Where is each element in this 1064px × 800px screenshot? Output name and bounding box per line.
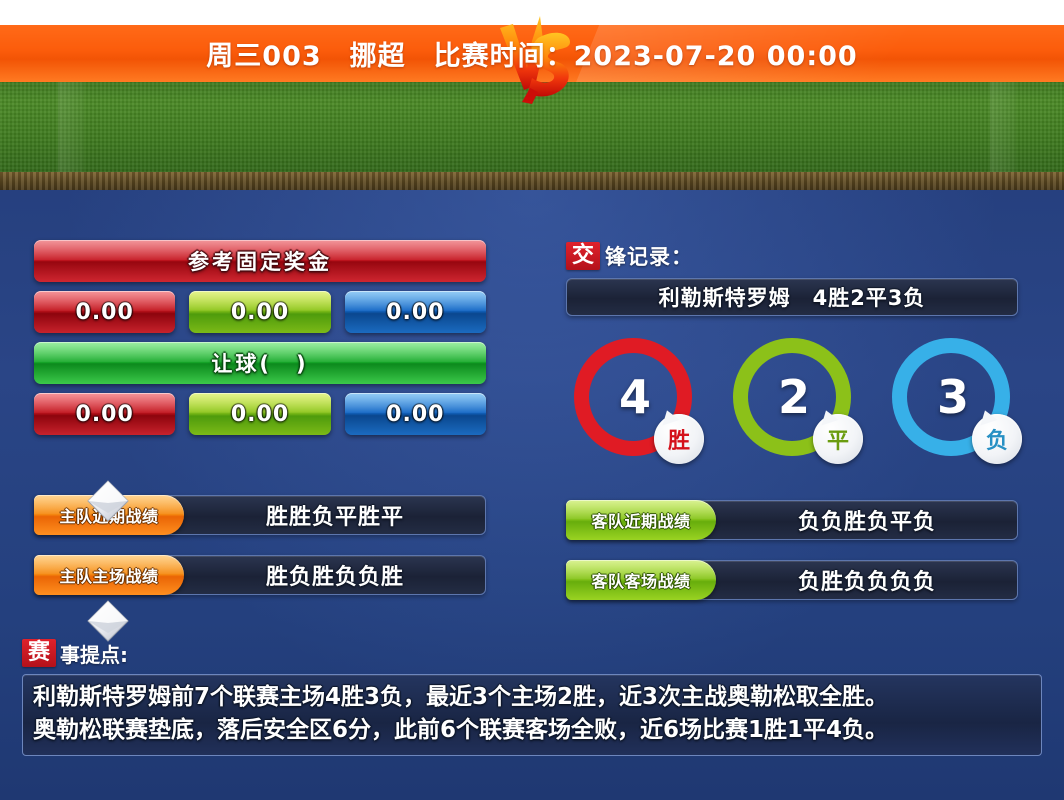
- away-recent-form-label: 客队近期战绩: [566, 500, 716, 540]
- ring-label-badge: 平: [813, 414, 863, 464]
- away-venue-form-label: 客队客场战绩: [566, 560, 716, 600]
- diamond-icon: [80, 473, 136, 529]
- h2h-summary-bar: 利勒斯特罗姆 4胜2平3负: [566, 278, 1018, 316]
- handicap-odds-row: 0.00 0.00 0.00: [34, 393, 486, 435]
- tips-line-2: 奥勒松联赛垫底，落后安全区6分，此前6个联赛客场全败，近6场比赛1胜1平4负。: [33, 714, 1031, 747]
- fixed-odds-lose[interactable]: 0.00: [345, 291, 486, 333]
- handicap-title: 让球( ): [211, 348, 308, 378]
- dirt-strip: [0, 172, 1064, 190]
- label-text: 客队客场战绩: [591, 568, 690, 592]
- fixed-odds-title: 参考固定奖金: [188, 246, 332, 276]
- h2h-panel: 交 锋记录： 利勒斯特罗姆 4胜2平3负 4 胜 2 平: [566, 240, 1018, 600]
- match-preview-page: 周三003 挪超 比赛时间：2023-07-20 00:00 利勒斯特罗姆 奥勒…: [0, 0, 1064, 800]
- tips-badge: 赛: [22, 639, 56, 666]
- odds-value: 0.00: [231, 300, 289, 325]
- fixed-odds-row: 0.00 0.00 0.00: [34, 291, 486, 333]
- fixed-odds-win[interactable]: 0.00: [34, 291, 175, 333]
- page-title: 周三003 挪超 比赛时间：2023-07-20 00:00: [206, 34, 857, 73]
- label-text: 客队近期战绩: [591, 508, 690, 532]
- h2h-summary-text: 利勒斯特罗姆 4胜2平3负: [659, 282, 926, 312]
- ring-label-badge: 胜: [654, 414, 704, 464]
- h2h-badge: 交: [566, 242, 600, 269]
- handicap-title-bar: 让球( ): [34, 342, 486, 384]
- match-tips-section: 赛 事提点: 利勒斯特罗姆前7个联赛主场4胜3负，最近3个主场2胜，近3次主战奥…: [22, 638, 1042, 756]
- odds-value: 0.00: [76, 300, 134, 325]
- ring-label-badge: 负: [972, 414, 1022, 464]
- home-recent-form-value: 胜胜负平胜平: [184, 495, 486, 535]
- odds-panel: 参考固定奖金 0.00 0.00: [34, 240, 486, 595]
- fixed-odds-draw[interactable]: 0.00: [189, 291, 330, 333]
- ring-label: 胜: [668, 423, 690, 455]
- h2h-ring-lose: 3 负: [892, 338, 1010, 456]
- away-recent-form-value: 负负胜负平负: [716, 500, 1018, 540]
- handicap-odds-draw[interactable]: 0.00: [189, 393, 330, 435]
- odds-value: 0.00: [231, 402, 289, 427]
- h2h-ring-win: 4 胜: [574, 338, 692, 456]
- h2h-ring-charts: 4 胜 2 平 3 负: [566, 338, 1018, 456]
- home-venue-form-row: 主队主场战绩 胜负胜负负胜: [34, 555, 486, 595]
- h2h-ring-draw: 2 平: [733, 338, 851, 456]
- h2h-header-text: 锋记录：: [605, 241, 693, 271]
- odds-value: 0.00: [76, 402, 134, 427]
- away-venue-form-row: 客队客场战绩 负胜负负负负: [566, 560, 1018, 600]
- handicap-odds-lose[interactable]: 0.00: [345, 393, 486, 435]
- label-text: 主队主场战绩: [59, 563, 158, 587]
- tips-line-1: 利勒斯特罗姆前7个联赛主场4胜3负，最近3个主场2胜，近3次主战奥勒松取全胜。: [33, 681, 1031, 714]
- fixed-odds-title-bar: 参考固定奖金: [34, 240, 486, 282]
- tips-header: 赛 事提点:: [22, 638, 1042, 668]
- diamond-icon: [80, 593, 136, 649]
- home-venue-form-label: 主队主场战绩: [34, 555, 184, 595]
- away-venue-form-value: 负胜负负负负: [716, 560, 1018, 600]
- ring-label: 负: [986, 423, 1008, 455]
- away-recent-form-row: 客队近期战绩 负负胜负平负: [566, 500, 1018, 540]
- h2h-header: 交 锋记录：: [566, 240, 1018, 272]
- home-venue-form-value: 胜负胜负负胜: [184, 555, 486, 595]
- handicap-odds-win[interactable]: 0.00: [34, 393, 175, 435]
- tips-box: 利勒斯特罗姆前7个联赛主场4胜3负，最近3个主场2胜，近3次主战奥勒松取全胜。 …: [22, 674, 1042, 756]
- odds-value: 0.00: [386, 402, 444, 427]
- odds-value: 0.00: [386, 300, 444, 325]
- ring-label: 平: [827, 423, 849, 455]
